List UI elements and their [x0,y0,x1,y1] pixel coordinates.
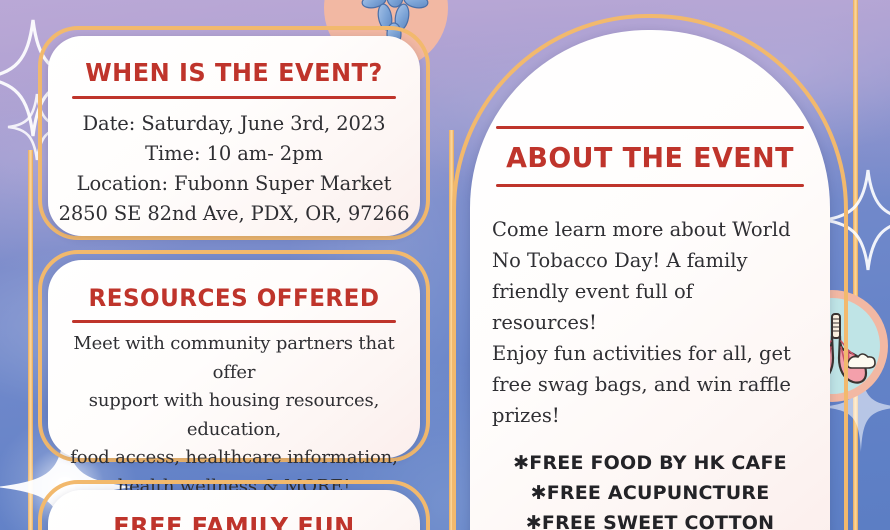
about-line: prizes! [492,400,792,431]
when-card-divider [72,96,396,99]
about-card-paragraph: Come learn more about World No Tobacco D… [492,214,792,431]
event-location: Location: Fubonn Super Market [48,169,420,199]
resources-line: food access, healthcare information, [62,444,406,473]
event-address: 2850 SE 82nd Ave, PDX, OR, 97266 [48,199,420,229]
resources-line: support with housing resources, educatio… [62,387,406,444]
bullet-item: ✱FREE SWEET COTTON [470,508,830,530]
flyer-canvas: WHEN IS THE EVENT? Date: Saturday, June … [0,0,890,530]
about-line: No Tobacco Day! A family [492,245,792,276]
resources-line: Meet with community partners that offer [62,330,406,387]
about-card-divider-bottom [496,184,804,187]
resources-card-details: Meet with community partners that offer … [48,330,420,501]
event-time: Time: 10 am- 2pm [48,139,420,169]
about-line: Enjoy fun activities for all, get [492,338,792,369]
about-line: free swag bags, and win raffle [492,369,792,400]
when-card-details: Date: Saturday, June 3rd, 2023 Time: 10 … [48,109,420,229]
resources-card-heading: RESOURCES OFFERED [55,284,412,312]
about-card: ABOUT THE EVENT Come learn more about Wo… [470,30,830,530]
when-card-heading: WHEN IS THE EVENT? [55,58,412,87]
family-fun-card-heading: FREE FAMILY FUN [55,512,412,530]
about-card-divider-top [496,126,804,129]
about-line: friendly event full of resources! [492,276,792,338]
bullet-item: ✱FREE ACUPUNCTURE [470,478,830,508]
about-card-heading: ABOUT THE EVENT [477,141,823,174]
about-card-bullet-list: ✱FREE FOOD BY HK CAFE ✱FREE ACUPUNCTURE … [470,448,830,530]
family-fun-card: FREE FAMILY FUN [48,490,420,530]
resources-card: RESOURCES OFFERED Meet with community pa… [48,260,420,458]
about-line: Come learn more about World [492,214,792,245]
bullet-item: ✱FREE FOOD BY HK CAFE [470,448,830,478]
event-date: Date: Saturday, June 3rd, 2023 [48,109,420,139]
when-card: WHEN IS THE EVENT? Date: Saturday, June … [48,36,420,236]
resources-card-divider [72,320,396,323]
